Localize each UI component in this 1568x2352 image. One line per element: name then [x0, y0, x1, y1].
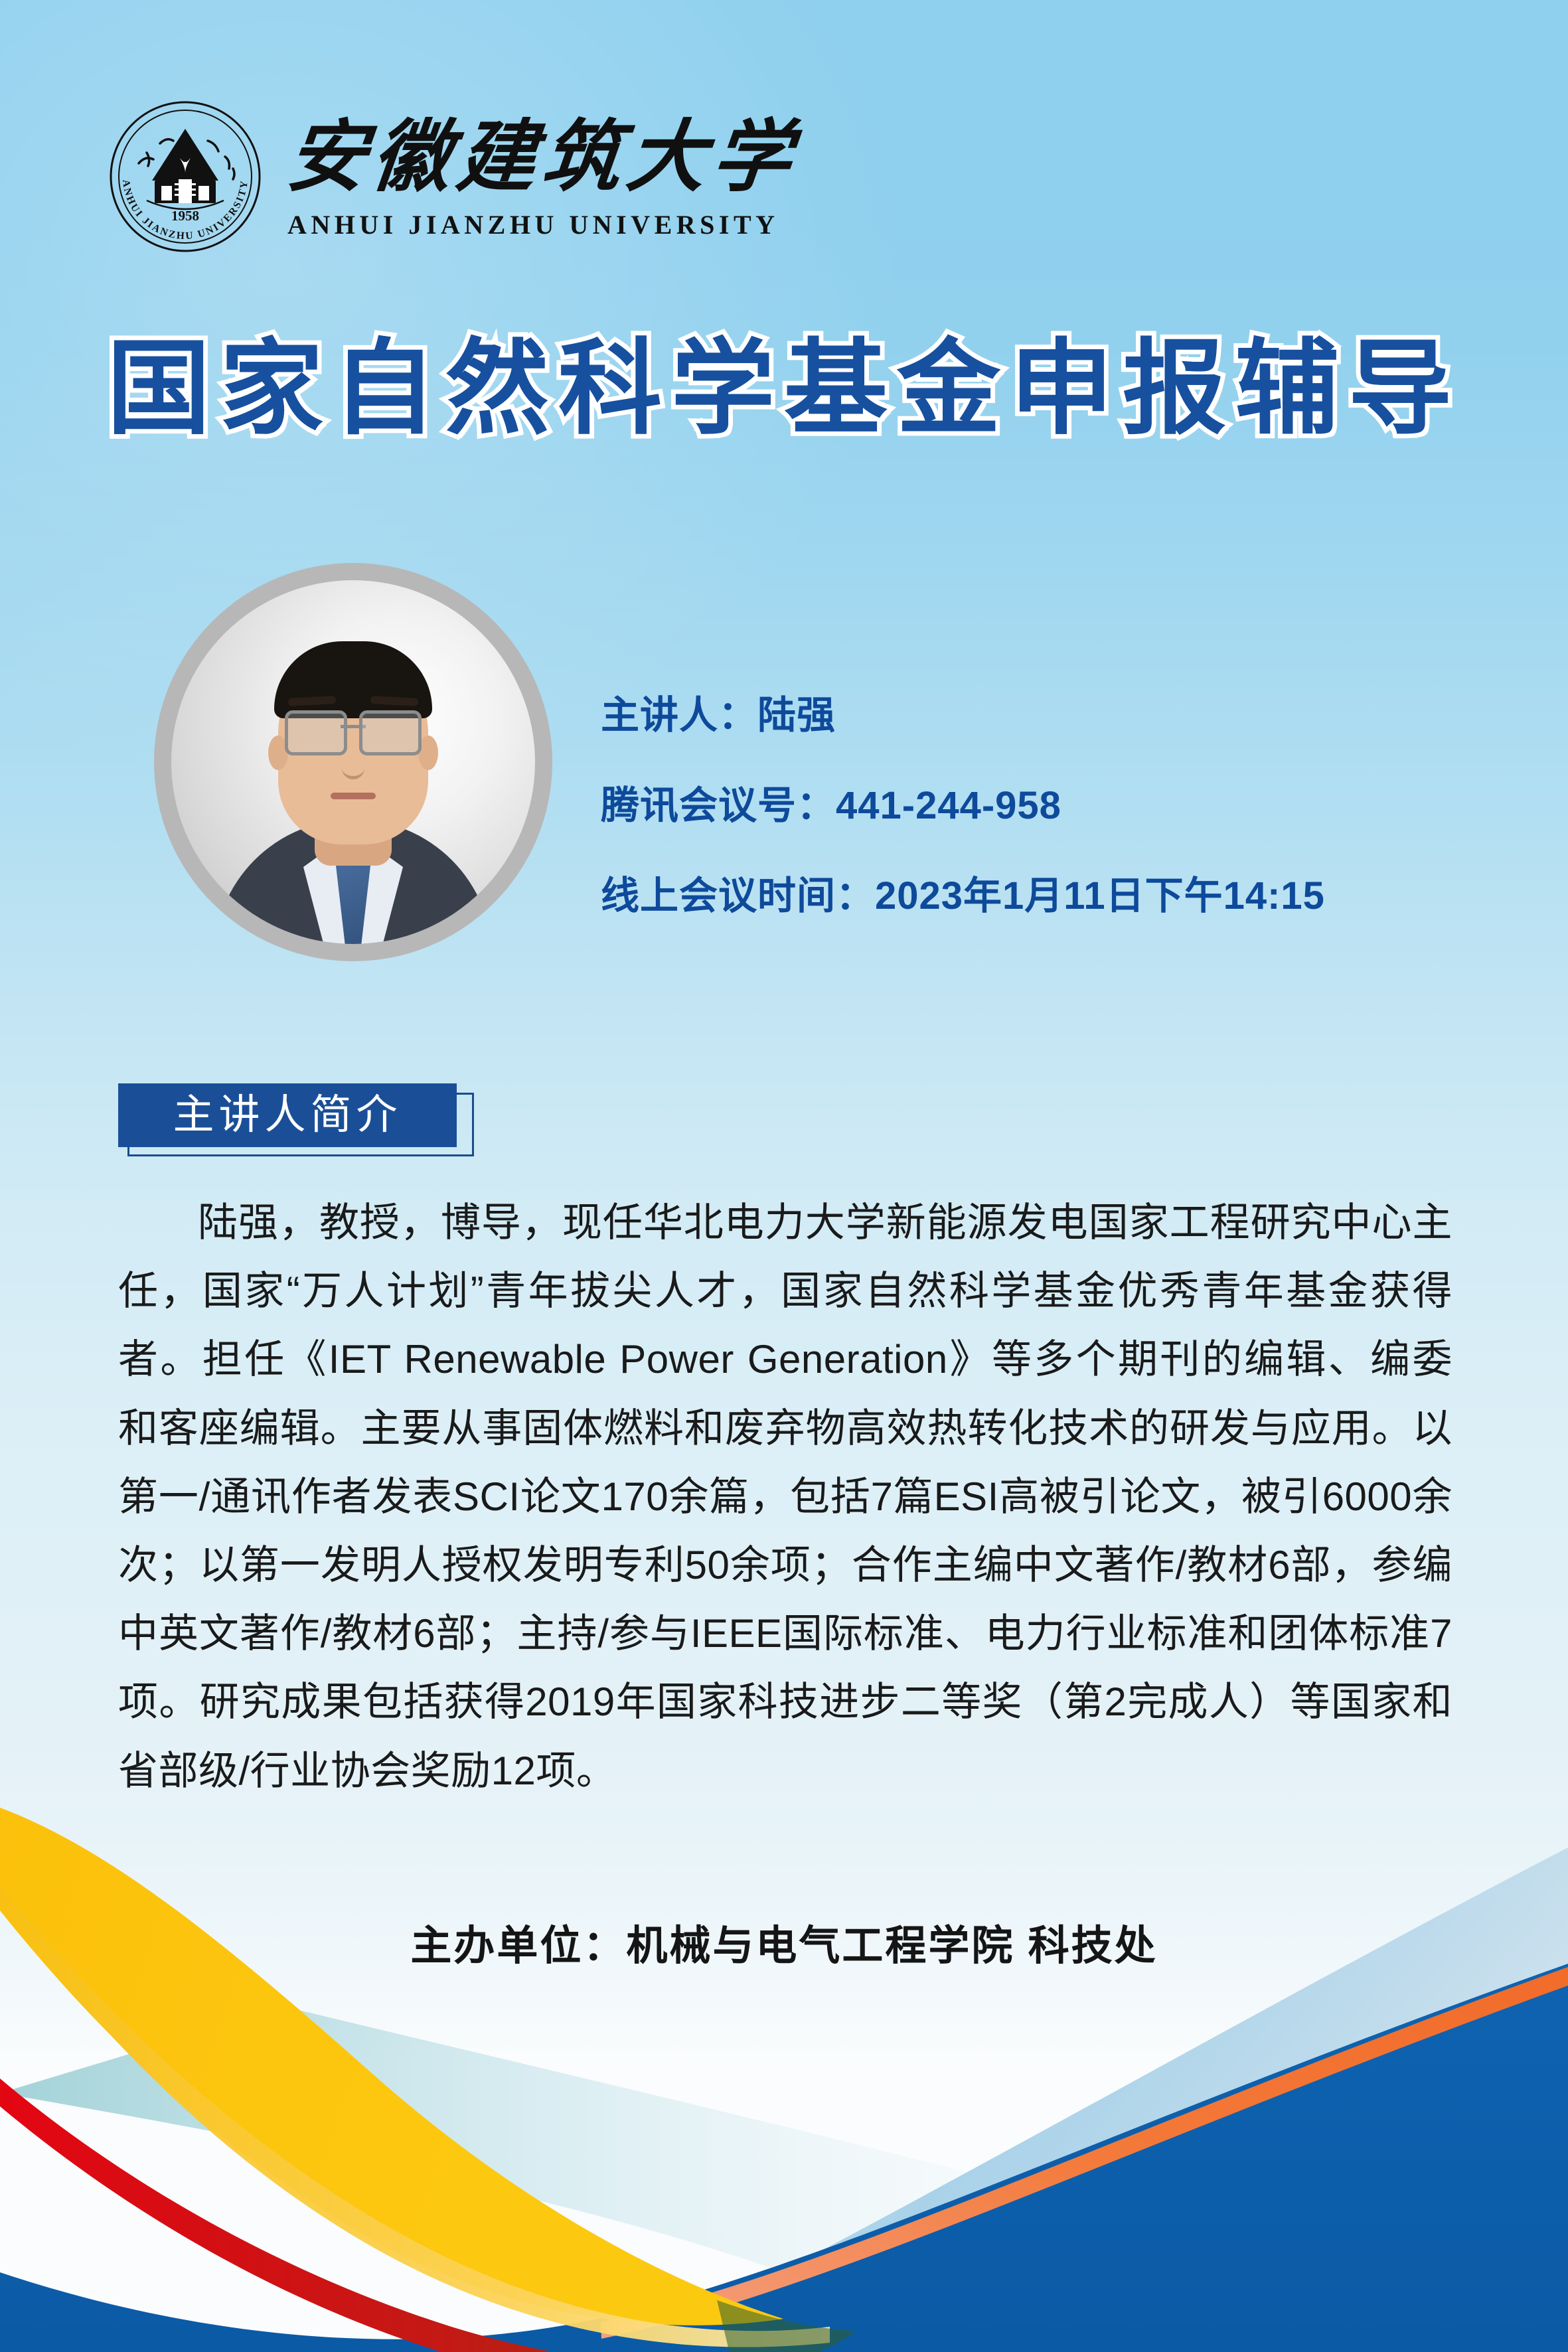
university-emblem-icon: 1958 ANHUI JIANZHU UNIVERSITY: [108, 100, 262, 254]
university-header: 1958 ANHUI JIANZHU UNIVERSITY 安徽建筑大学 ANH…: [108, 100, 797, 254]
university-name-cn: 安徽建筑大学: [283, 119, 801, 197]
bottom-wave-decoration: [0, 1808, 1568, 2352]
glasses-lens-right: [359, 710, 422, 755]
organizer-container: 主办单位：机械与电气工程学院 科技处: [0, 1912, 1568, 1972]
portrait-photo: [171, 580, 535, 944]
university-name-en: ANHUI JIANZHU UNIVERSITY: [287, 209, 779, 240]
meeting-id-line: 腾讯会议号：441-244-958: [601, 774, 1464, 830]
speaker-portrait: [154, 563, 552, 961]
portrait-glasses: [285, 710, 422, 750]
badge-label: 主讲人简介: [173, 1095, 402, 1136]
university-wordmark: 安徽建筑大学 ANHUI JIANZHU UNIVERSITY: [287, 114, 797, 240]
section-badge-speaker-bio: 主讲人简介: [118, 1083, 475, 1158]
speaker-name-line: 主讲人：陆强: [601, 684, 1464, 740]
page-title: 国家自然科学基金申报辅导: [107, 335, 1461, 444]
speaker-biography: 陆强，教授，博导，现任华北电力大学新能源发电国家工程研究中心主任，国家“万人计划…: [118, 1188, 1452, 1805]
portrait-hair: [274, 641, 432, 718]
svg-text:1958: 1958: [171, 208, 199, 224]
meeting-time-line: 线上会议时间：2023年1月11日下午14:15: [601, 864, 1464, 920]
speaker-info-block: 主讲人：陆强 腾讯会议号：441-244-958 线上会议时间：2023年1月1…: [601, 684, 1464, 920]
poster-root: 1958 ANHUI JIANZHU UNIVERSITY 安徽建筑大学 ANH…: [0, 0, 1568, 2352]
badge-fill: 主讲人简介: [118, 1083, 457, 1147]
main-title-container: 国家自然科学基金申报辅导: [0, 335, 1568, 444]
wave-graphics: [0, 1808, 1568, 2352]
glasses-lens-left: [285, 710, 347, 755]
organizer-label: 主办单位：机械与电气工程学院 科技处: [410, 1912, 1157, 1972]
portrait-mouth: [331, 793, 376, 799]
